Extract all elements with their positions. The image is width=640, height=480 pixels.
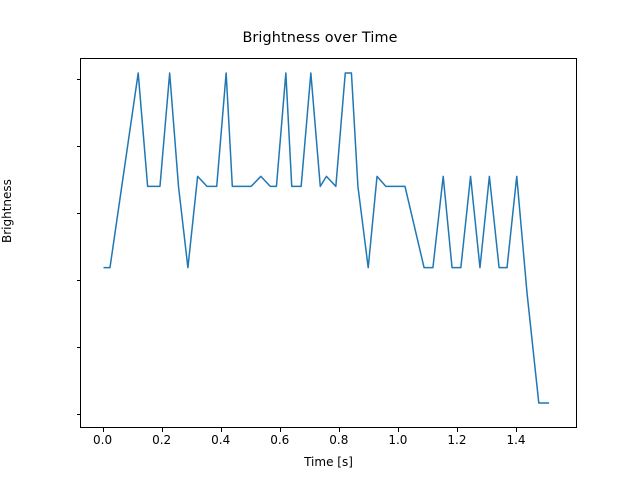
x-tick-mark xyxy=(398,428,399,432)
x-tick-mark xyxy=(339,428,340,432)
x-tick-label: 1.0 xyxy=(388,433,407,447)
x-tick-label: 0.2 xyxy=(152,433,171,447)
x-axis-label: Time [s] xyxy=(80,455,577,469)
x-tick-label: 0.0 xyxy=(93,433,112,447)
x-tick-label: 0.6 xyxy=(270,433,289,447)
matplotlib-figure: Brightness over Time Brightness 30004000… xyxy=(0,0,640,480)
chart-title: Brightness over Time xyxy=(0,30,640,46)
x-tick-mark xyxy=(280,428,281,432)
data-series-brightness xyxy=(103,73,549,403)
x-tick-mark xyxy=(162,428,163,432)
y-axis-label: Brightness xyxy=(0,179,14,243)
x-tick-label: 0.4 xyxy=(211,433,230,447)
x-tick-mark xyxy=(103,428,104,432)
x-tick-label: 1.2 xyxy=(447,433,466,447)
data-line-svg xyxy=(81,59,576,427)
plot-area xyxy=(80,58,577,428)
x-tick-mark xyxy=(516,428,517,432)
x-tick-label: 1.4 xyxy=(506,433,525,447)
x-tick-mark xyxy=(221,428,222,432)
x-tick-mark xyxy=(457,428,458,432)
x-tick-label: 0.8 xyxy=(329,433,348,447)
